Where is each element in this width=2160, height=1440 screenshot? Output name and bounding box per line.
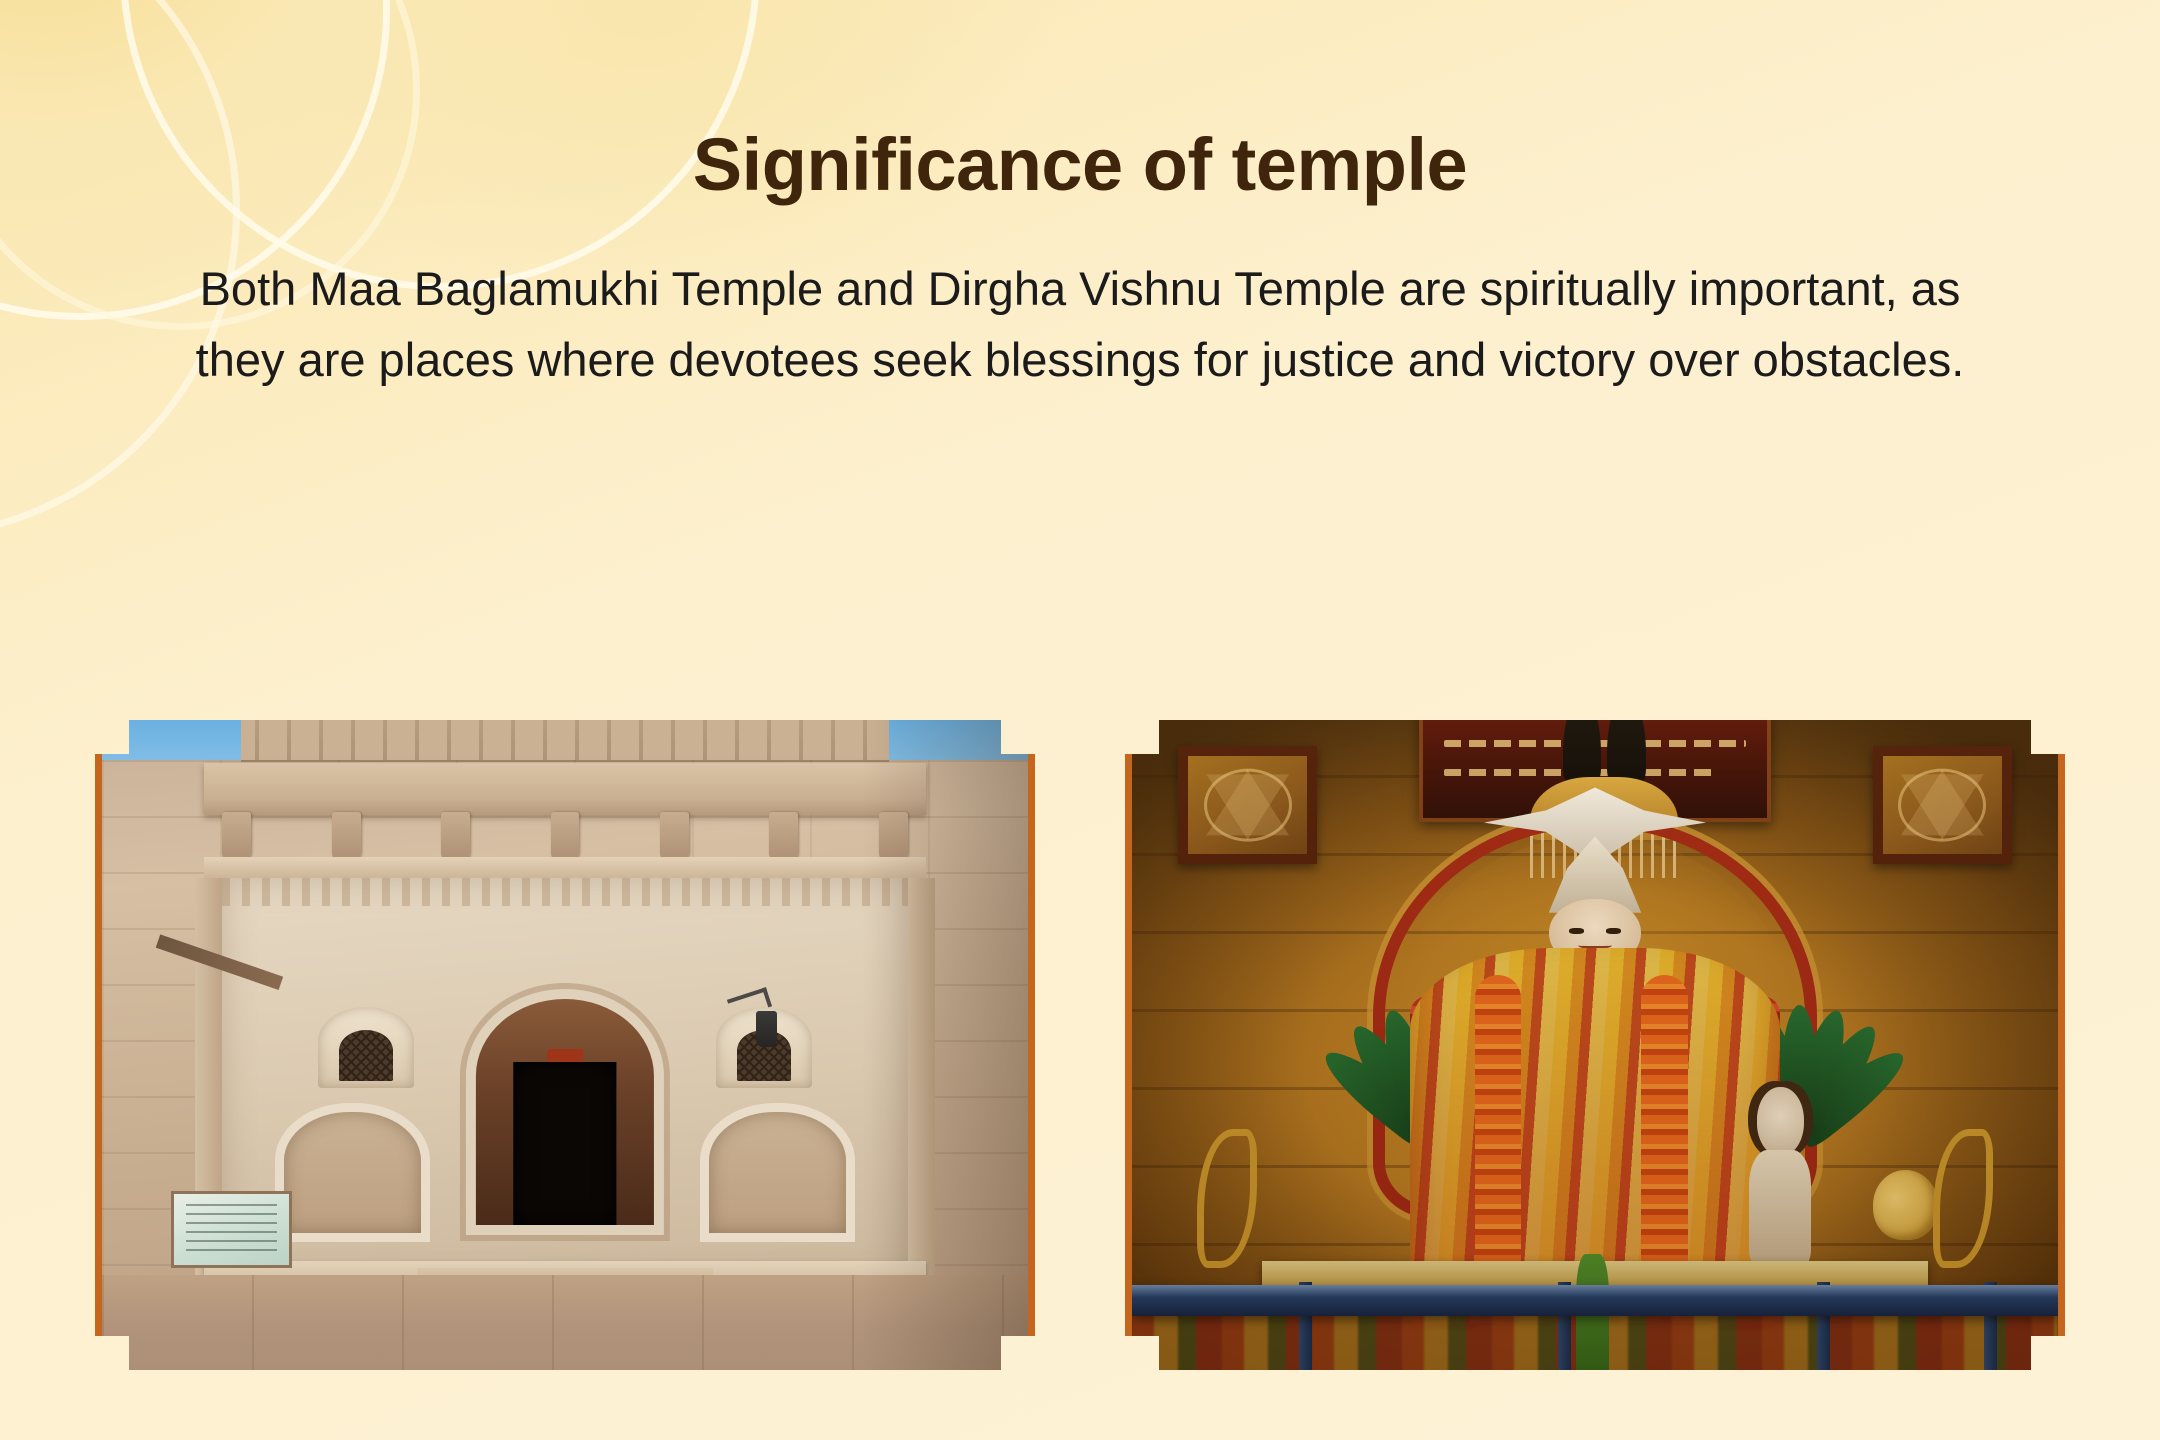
bracket: [769, 812, 798, 861]
photo-frame-border-left: [95, 690, 1035, 1400]
attendant-head: [1757, 1087, 1804, 1156]
photo-card-deity-sanctum[interactable]: [1125, 690, 2065, 1400]
marigold-garland-left: [1475, 975, 1521, 1281]
attendant-body: [1749, 1150, 1811, 1268]
cusped-arch-recess-right: [709, 1112, 846, 1233]
bracket: [660, 812, 689, 861]
blue-railing-bar: [1132, 1285, 2058, 1316]
yantra-panel-left: [1178, 746, 1317, 864]
bracket: [332, 812, 361, 861]
dark-door-opening: [513, 1062, 616, 1225]
jali-niche-left: [318, 1007, 414, 1088]
photo-frame-inner-right: [1132, 697, 2058, 1393]
hanging-lamp: [756, 1011, 778, 1047]
photo-row: [95, 690, 2065, 1400]
headings-block: Significance of temple Both Maa Baglamuk…: [0, 128, 2160, 395]
deity-eye-right: [1606, 928, 1621, 934]
doorway-vermilion-mark: [547, 1049, 583, 1063]
cusped-frame-clip-left: [95, 690, 1035, 1400]
sri-yantra-carving: [1898, 769, 1986, 842]
bell-icon: [1607, 697, 1646, 787]
paved-ground: [102, 1275, 1028, 1393]
cusped-arch-recess-left: [284, 1112, 421, 1233]
overhanging-eave: [204, 763, 926, 815]
page-body-text: Both Maa Baglamukhi Temple and Dirgha Vi…: [180, 254, 1980, 395]
bracket: [222, 812, 251, 861]
bracket: [441, 812, 470, 861]
photo-card-temple-facade[interactable]: [95, 690, 1035, 1400]
photo-frame-inner-left: [102, 697, 1028, 1393]
cornice-band: [204, 857, 926, 878]
roof-parapet: [241, 704, 889, 760]
attendant-figure: [1743, 1087, 1817, 1268]
banana-stalk: [1576, 1254, 1608, 1393]
carved-facade-panel: [222, 878, 907, 1282]
deity-sanctum-photo: [1132, 697, 2058, 1393]
cusped-frame-clip-right: [1125, 690, 2065, 1400]
temple-bells: [1558, 697, 1651, 787]
eave-brackets: [222, 812, 907, 861]
temple-facade-photo: [102, 697, 1028, 1393]
slide-canvas: Significance of temple Both Maa Baglamuk…: [0, 0, 2160, 1440]
yantra-panel-right: [1873, 746, 2012, 864]
bell-icon: [1563, 697, 1602, 787]
cusped-arch-doorway: [476, 999, 654, 1225]
information-plaque: [171, 1191, 291, 1268]
conch-shell: [1873, 1170, 1938, 1240]
marigold-garland-right: [1641, 975, 1687, 1281]
bracket: [879, 812, 908, 861]
photo-frame-border-right: [1125, 690, 2065, 1400]
bracket: [551, 812, 580, 861]
deity-eye-left: [1569, 928, 1584, 934]
jali-screen: [339, 1030, 393, 1082]
sri-yantra-carving: [1204, 769, 1292, 842]
pilaster-right: [908, 878, 936, 1282]
page-title: Significance of temple: [0, 128, 2160, 202]
